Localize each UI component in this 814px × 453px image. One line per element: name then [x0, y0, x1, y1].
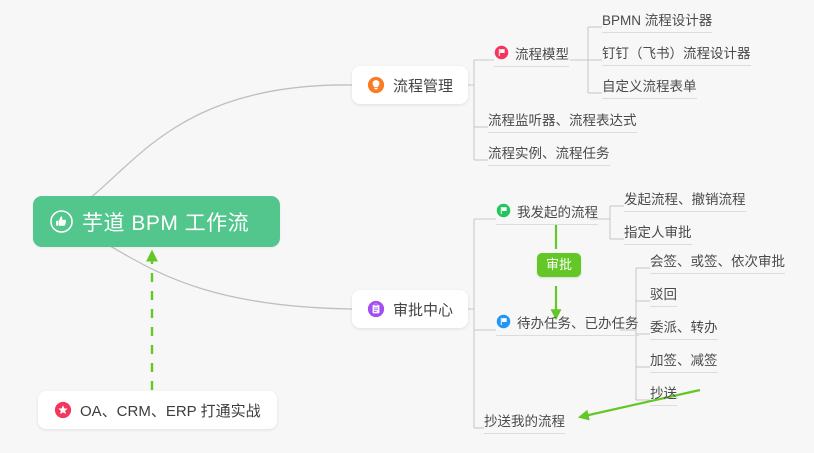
integration-label: OA、CRM、ERP 打通实战 [80, 400, 261, 421]
leaf-label-add-remove-sign: 加签、减签 [650, 349, 718, 369]
leaf-label-todo-done-tasks: 待办任务、已办任务 [517, 312, 639, 332]
leaf-label-custom-process-form: 自定义流程表单 [602, 75, 697, 95]
leaf-label-reject: 驳回 [650, 283, 677, 303]
flag-icon [496, 203, 511, 218]
leaf-label-start-cancel-process: 发起流程、撤销流程 [624, 188, 746, 208]
leaf-dingtalk-designer[interactable]: 钉钉（飞书）流程设计器 [602, 42, 751, 66]
leaf-bpmn-designer[interactable]: BPMN 流程设计器 [602, 9, 712, 33]
clipboard-icon [367, 300, 385, 318]
leaf-start-cancel-process[interactable]: 发起流程、撤销流程 [624, 188, 746, 212]
leaf-label-bpmn-designer: BPMN 流程设计器 [602, 9, 712, 29]
leaf-cc[interactable]: 抄送 [650, 382, 677, 406]
branch-node-process-management[interactable]: 流程管理 [352, 66, 468, 104]
leaf-label-cc: 抄送 [650, 382, 677, 402]
star-icon [54, 401, 72, 419]
leaf-instance-task[interactable]: 流程实例、流程任务 [488, 142, 610, 166]
branch-node-approval-center[interactable]: 审批中心 [352, 290, 468, 328]
leaf-delegate-transfer[interactable]: 委派、转办 [650, 316, 718, 340]
leaf-my-initiated-process[interactable]: 我发起的流程 [496, 201, 598, 225]
leaf-label-assignee-approve: 指定人审批 [624, 221, 692, 241]
approve-badge: 审批 [537, 253, 581, 277]
flag-icon [496, 314, 511, 329]
leaf-label-instance-task: 流程实例、流程任务 [488, 142, 610, 162]
thumbs-up-icon [50, 210, 73, 233]
leaf-todo-done-tasks[interactable]: 待办任务、已办任务 [496, 312, 639, 336]
leaf-assignee-approve[interactable]: 指定人审批 [624, 221, 692, 245]
leaf-label-my-initiated-process: 我发起的流程 [517, 201, 598, 221]
branch-label-approval-center: 审批中心 [393, 299, 453, 320]
branch-label-process-management: 流程管理 [393, 75, 453, 96]
leaf-process-model[interactable]: 流程模型 [494, 43, 569, 67]
leaf-cc-my-process[interactable]: 抄送我的流程 [484, 410, 565, 434]
leaf-reject[interactable]: 驳回 [650, 283, 677, 307]
leaf-listener-expression[interactable]: 流程监听器、流程表达式 [488, 109, 637, 133]
mindmap-canvas: 芋道 BPM 工作流 流程管理 审批中心 流程模型 [0, 0, 814, 453]
leaf-label-delegate-transfer: 委派、转办 [650, 316, 718, 336]
integration-node[interactable]: OA、CRM、ERP 打通实战 [38, 391, 277, 429]
flag-icon [494, 45, 509, 60]
leaf-label-listener-expression: 流程监听器、流程表达式 [488, 109, 637, 129]
leaf-add-remove-sign[interactable]: 加签、减签 [650, 349, 718, 373]
leaf-label-dingtalk-designer: 钉钉（飞书）流程设计器 [602, 42, 751, 62]
root-node[interactable]: 芋道 BPM 工作流 [33, 196, 280, 247]
lightbulb-icon [367, 76, 385, 94]
leaf-custom-process-form[interactable]: 自定义流程表单 [602, 75, 697, 99]
root-label: 芋道 BPM 工作流 [82, 207, 249, 237]
leaf-label-process-model: 流程模型 [515, 43, 569, 63]
leaf-label-countersign: 会签、或签、依次审批 [650, 250, 785, 270]
leaf-countersign[interactable]: 会签、或签、依次审批 [650, 250, 785, 274]
leaf-label-cc-my-process: 抄送我的流程 [484, 410, 565, 430]
cc-to-ccmyprocess-arrow [580, 390, 700, 417]
